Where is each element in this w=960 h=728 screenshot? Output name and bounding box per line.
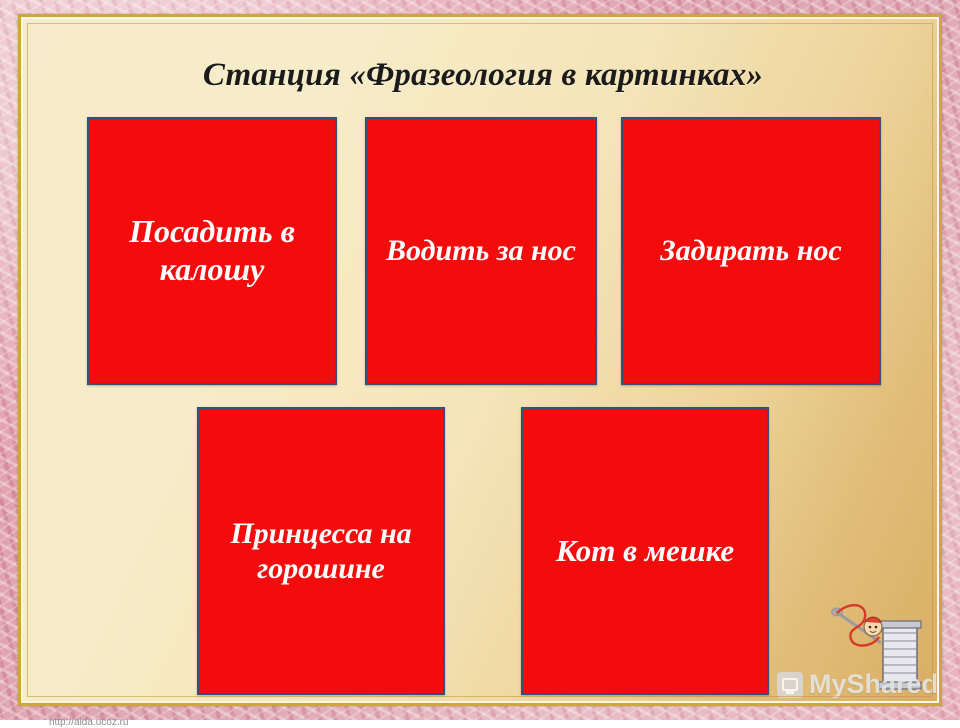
phrase-card-label: Кот в мешке (529, 533, 761, 570)
phrase-card[interactable]: Посадить в калошу (87, 117, 337, 385)
slide-panel: Станция «Фразеология в картинках» Посади… (18, 14, 942, 706)
page-title: Станция «Фразеология в картинках» (21, 57, 945, 94)
phrase-card-label: Принцесса на горошине (205, 516, 437, 587)
phrase-card-label: Задирать нос (629, 233, 873, 268)
phrase-card-label: Посадить в калошу (95, 213, 329, 289)
phrase-card[interactable]: Кот в мешке (521, 407, 769, 695)
source-url-label: http://aida.ucoz.ru (49, 717, 129, 728)
watermark: MyShared (777, 669, 938, 700)
phrase-card-label: Водить за нос (373, 233, 589, 268)
watermark-label: MyShared (809, 669, 938, 700)
phrase-card[interactable]: Задирать нос (621, 117, 881, 385)
phrase-card[interactable]: Принцесса на горошине (197, 407, 445, 695)
slide-canvas: Станция «Фразеология в картинках» Посади… (0, 0, 960, 720)
phrase-card[interactable]: Водить за нос (365, 117, 597, 385)
presentation-icon (777, 672, 803, 698)
